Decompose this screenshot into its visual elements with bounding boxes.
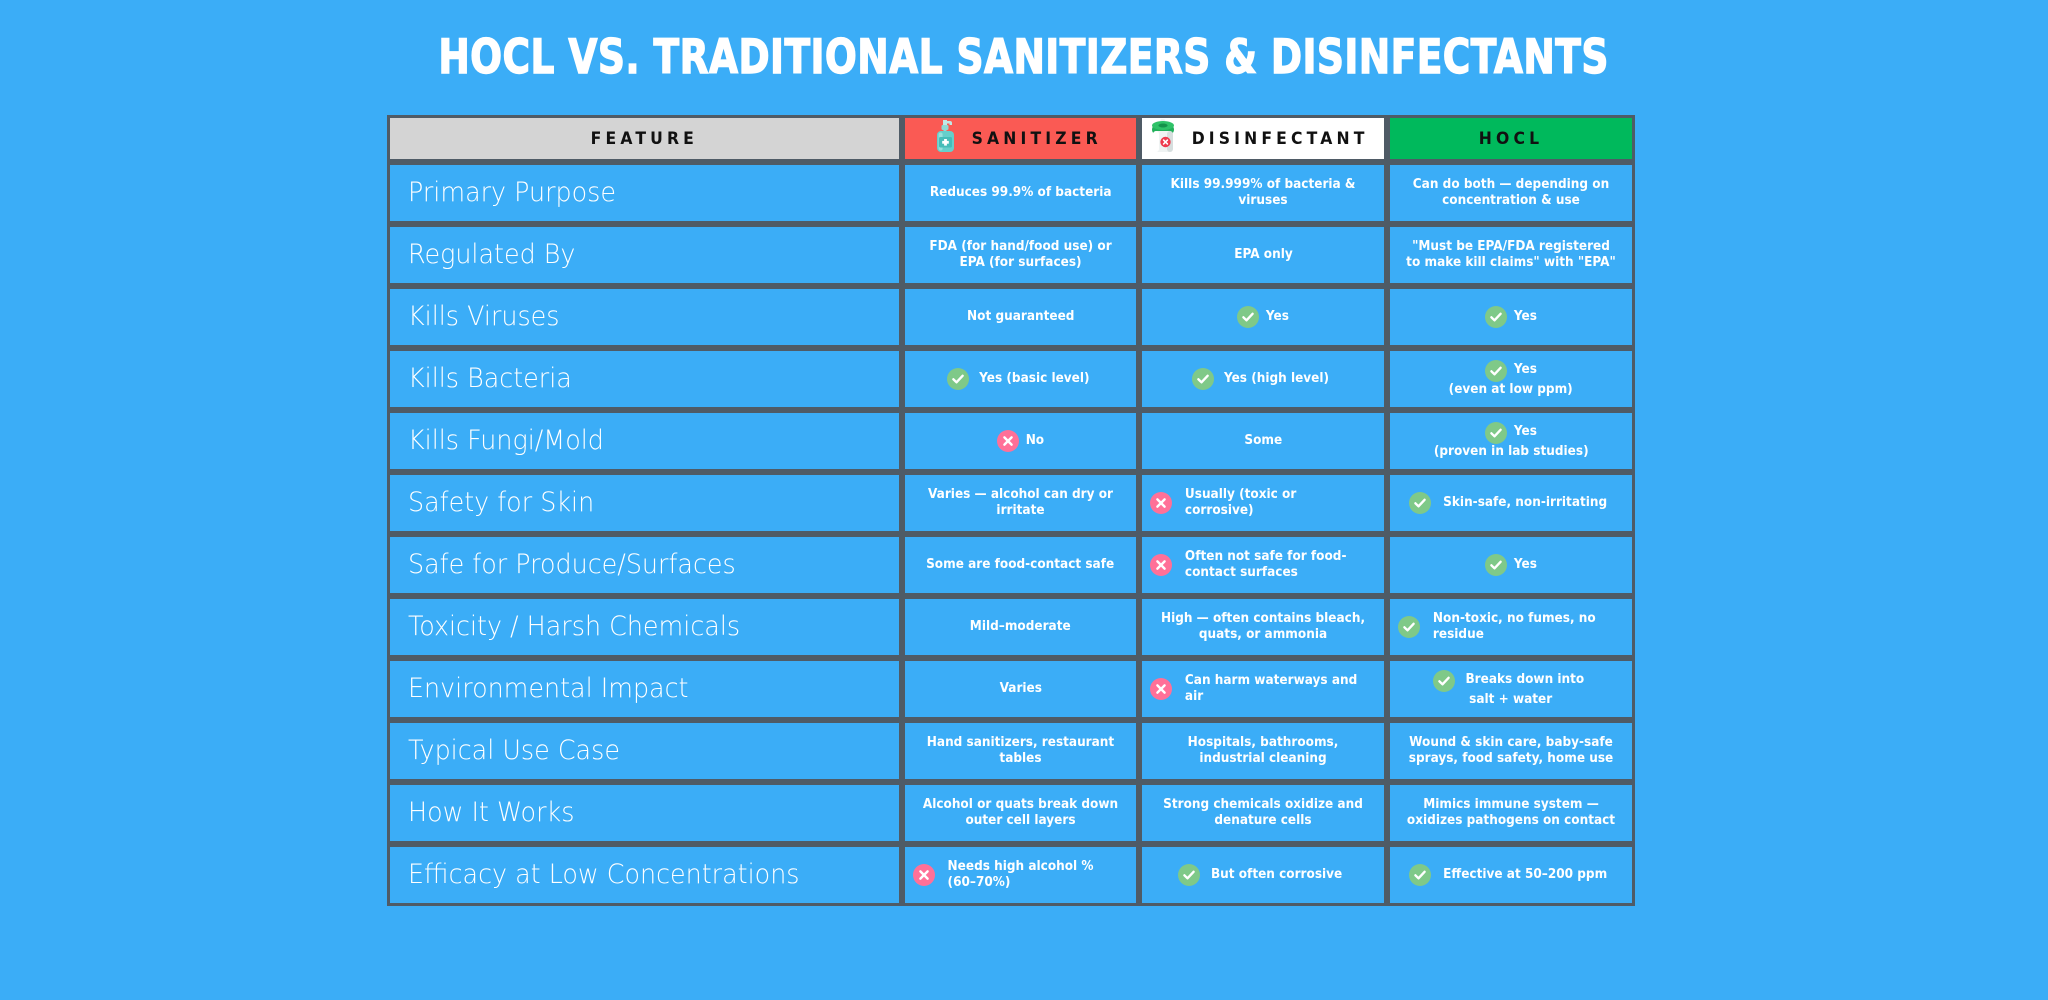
sanitizer-cell: Not guaranteed — [902, 286, 1139, 348]
table-row: Kills BacteriaYes (basic level)Yes (high… — [387, 348, 1635, 410]
disinfectant-cell: Often not safe for food-contact surfaces — [1139, 534, 1387, 596]
cell-text: Yes — [1513, 362, 1536, 379]
sanitizer-cell: FDA (for hand/food use) or EPA (for surf… — [902, 224, 1139, 286]
feature-label: Efficacy at Low Concentrations — [408, 859, 800, 890]
hocl-cell: Wound & skin care, baby-safe sprays, foo… — [1387, 720, 1635, 782]
cell-text: Can harm waterways and air — [1185, 673, 1369, 706]
cell-text: Usually (toxic or corrosive) — [1185, 487, 1369, 520]
disinfectant-cell: But often corrosive — [1139, 844, 1387, 906]
sanitizer-cell: Varies — alcohol can dry or irritate — [902, 472, 1139, 534]
feature-cell: Toxicity / Harsh Chemicals — [387, 596, 902, 658]
sanitizer-cell: Yes (basic level) — [902, 348, 1139, 410]
table-row: How It WorksAlcohol or quats break down … — [387, 782, 1635, 844]
cross-icon — [1150, 492, 1172, 514]
cell-text: Varies — alcohol can dry or irritate — [921, 487, 1121, 520]
cell-text: Non-toxic, no fumes, no residue — [1433, 611, 1617, 644]
hocl-cell: Yes — [1387, 286, 1635, 348]
column-header-hocl-label: HOCL — [1479, 129, 1543, 149]
cell-subtext: (even at low ppm) — [1449, 382, 1573, 399]
feature-cell: Kills Viruses — [387, 286, 902, 348]
cell-text: Hand sanitizers, restaurant tables — [921, 735, 1121, 768]
table-row: Regulated ByFDA (for hand/food use) or E… — [387, 224, 1635, 286]
cell-text: Effective at 50–200 ppm — [1443, 867, 1607, 883]
cell-text: Hospitals, bathrooms, industrial cleanin… — [1158, 735, 1368, 768]
comparison-table-container: FEATURE — [387, 115, 1635, 906]
cell-text: Alcohol or quats break down outer cell l… — [921, 797, 1121, 830]
cell-text: Yes — [1513, 557, 1536, 573]
sanitizer-cell: Alcohol or quats break down outer cell l… — [902, 782, 1139, 844]
feature-label: How It Works — [408, 797, 574, 828]
check-icon — [1237, 306, 1259, 328]
table-row: Kills VirusesNot guaranteedYesYes — [387, 286, 1635, 348]
check-icon — [1409, 864, 1431, 886]
table-header: FEATURE — [387, 115, 1635, 162]
feature-cell: Kills Bacteria — [387, 348, 902, 410]
cell-text: Yes (basic level) — [979, 371, 1089, 387]
feature-cell: Safety for Skin — [387, 472, 902, 534]
cell-text: Mimics immune system — oxidizes pathogen… — [1406, 797, 1616, 830]
check-icon — [1178, 864, 1200, 886]
cell-text: Yes — [1513, 309, 1536, 325]
feature-label: Regulated By — [408, 239, 575, 270]
table-row: Kills Fungi/MoldNoSomeYes(proven in lab … — [387, 410, 1635, 472]
cell-text: Needs high alcohol % (60–70%) — [948, 859, 1122, 892]
page-title: HOCL VS. TRADITIONAL SANITIZERS & DISINF… — [439, 34, 1610, 81]
feature-label: Kills Bacteria — [408, 363, 572, 394]
disinfectant-cell: Yes — [1139, 286, 1387, 348]
hocl-cell: Mimics immune system — oxidizes pathogen… — [1387, 782, 1635, 844]
feature-label: Environmental Impact — [408, 673, 689, 704]
feature-cell: Kills Fungi/Mold — [387, 410, 902, 472]
column-header-feature-label: FEATURE — [591, 129, 698, 149]
feature-label: Kills Fungi/Mold — [408, 425, 604, 456]
disinfectant-cell: Usually (toxic or corrosive) — [1139, 472, 1387, 534]
hocl-cell: Yes(even at low ppm) — [1387, 348, 1635, 410]
disinfectant-cell: Some — [1139, 410, 1387, 472]
cell-subtext: salt + water — [1469, 692, 1552, 709]
feature-label: Kills Viruses — [408, 301, 560, 332]
cell-subtext: (proven in lab studies) — [1434, 444, 1589, 461]
cell-text: Kills 99.999% of bacteria & viruses — [1158, 177, 1368, 210]
title-container: HOCL VS. TRADITIONAL SANITIZERS & DISINF… — [0, 34, 2048, 81]
disinfectant-cell: Hospitals, bathrooms, industrial cleanin… — [1139, 720, 1387, 782]
sanitizer-cell: Some are food-contact safe — [902, 534, 1139, 596]
sanitizer-cell: Mild–moderate — [902, 596, 1139, 658]
infographic-page: HOCL VS. TRADITIONAL SANITIZERS & DISINF… — [0, 0, 2048, 1000]
cell-text: Yes — [1265, 309, 1288, 325]
feature-cell: Typical Use Case — [387, 720, 902, 782]
cell-text: EPA only — [1234, 247, 1293, 263]
column-header-sanitizer-label: SANITIZER — [972, 129, 1102, 149]
column-header-disinfectant: DISINFECTANT — [1139, 115, 1387, 162]
check-icon — [1409, 492, 1431, 514]
cross-icon — [1150, 678, 1172, 700]
hocl-cell: Can do both — depending on concentration… — [1387, 162, 1635, 224]
feature-cell: Environmental Impact — [387, 658, 902, 720]
table-row: Efficacy at Low ConcentrationsNeeds high… — [387, 844, 1635, 906]
cell-text: Skin-safe, non-irritating — [1443, 495, 1607, 511]
cell-text: "Must be EPA/FDA registered to make kill… — [1406, 239, 1616, 272]
feature-cell: Safe for Produce/Surfaces — [387, 534, 902, 596]
cell-text: Strong chemicals oxidize and denature ce… — [1158, 797, 1368, 830]
table-header-row: FEATURE — [387, 115, 1635, 162]
check-icon — [1398, 616, 1420, 638]
hocl-cell: Skin-safe, non-irritating — [1387, 472, 1635, 534]
table-body: Primary PurposeReduces 99.9% of bacteria… — [387, 162, 1635, 906]
cross-icon — [913, 864, 935, 886]
sanitizer-cell: Hand sanitizers, restaurant tables — [902, 720, 1139, 782]
cross-icon — [997, 430, 1019, 452]
feature-cell: Regulated By — [387, 224, 902, 286]
sanitizer-cell: Needs high alcohol % (60–70%) — [902, 844, 1139, 906]
feature-label: Primary Purpose — [408, 177, 616, 208]
cell-text: Not guaranteed — [967, 309, 1074, 325]
hocl-cell: Yes — [1387, 534, 1635, 596]
check-icon — [1485, 306, 1507, 328]
feature-label: Toxicity / Harsh Chemicals — [408, 611, 740, 642]
check-icon — [1485, 554, 1507, 576]
cell-text: Mild–moderate — [970, 619, 1071, 635]
disinfectant-cell: EPA only — [1139, 224, 1387, 286]
disinfectant-cell: Yes (high level) — [1139, 348, 1387, 410]
hocl-cell: Breaks down intosalt + water — [1387, 658, 1635, 720]
disinfectant-cell: High — often contains bleach, quats, or … — [1139, 596, 1387, 658]
cell-text: Often not safe for food-contact surfaces — [1185, 549, 1369, 582]
column-header-hocl: HOCL — [1387, 115, 1635, 162]
comparison-table: FEATURE — [387, 115, 1635, 906]
check-icon — [947, 368, 969, 390]
feature-cell: Primary Purpose — [387, 162, 902, 224]
cell-text: But often corrosive — [1211, 867, 1342, 883]
cell-text: Varies — [999, 681, 1041, 697]
cell-text: Some — [1244, 433, 1282, 449]
cell-text: High — often contains bleach, quats, or … — [1158, 611, 1368, 644]
hocl-cell: "Must be EPA/FDA registered to make kill… — [1387, 224, 1635, 286]
cell-text: Some are food-contact safe — [926, 557, 1114, 573]
disinfectant-cell: Strong chemicals oxidize and denature ce… — [1139, 782, 1387, 844]
hocl-cell: Effective at 50–200 ppm — [1387, 844, 1635, 906]
feature-label: Typical Use Case — [408, 735, 620, 766]
cell-text: Wound & skin care, baby-safe sprays, foo… — [1406, 735, 1616, 768]
column-header-feature: FEATURE — [387, 115, 902, 162]
feature-label: Safe for Produce/Surfaces — [408, 549, 736, 580]
check-icon — [1485, 360, 1507, 382]
cell-text: FDA (for hand/food use) or EPA (for surf… — [921, 239, 1121, 272]
feature-cell: Efficacy at Low Concentrations — [387, 844, 902, 906]
check-icon — [1485, 422, 1507, 444]
sanitizer-bottle-icon — [933, 119, 959, 158]
feature-cell: How It Works — [387, 782, 902, 844]
table-row: Safety for SkinVaries — alcohol can dry … — [387, 472, 1635, 534]
column-header-sanitizer: SANITIZER — [902, 115, 1139, 162]
cell-text: Yes (high level) — [1224, 371, 1329, 387]
table-row: Environmental ImpactVariesCan harm water… — [387, 658, 1635, 720]
column-header-disinfectant-label: DISINFECTANT — [1192, 129, 1369, 149]
disinfectant-cell: Kills 99.999% of bacteria & viruses — [1139, 162, 1387, 224]
sanitizer-cell: No — [902, 410, 1139, 472]
cell-text: Reduces 99.9% of bacteria — [930, 185, 1112, 201]
cell-text: Yes — [1513, 424, 1536, 441]
disinfectant-cell: Can harm waterways and air — [1139, 658, 1387, 720]
cell-text: Breaks down into — [1466, 672, 1585, 689]
sanitizer-cell: Reduces 99.9% of bacteria — [902, 162, 1139, 224]
cell-text: No — [1025, 433, 1043, 449]
hocl-cell: Yes(proven in lab studies) — [1387, 410, 1635, 472]
cell-text: Can do both — depending on concentration… — [1406, 177, 1616, 210]
hocl-cell: Non-toxic, no fumes, no residue — [1387, 596, 1635, 658]
table-row: Safe for Produce/SurfacesSome are food-c… — [387, 534, 1635, 596]
table-row: Typical Use CaseHand sanitizers, restaur… — [387, 720, 1635, 782]
sanitizer-cell: Varies — [902, 658, 1139, 720]
feature-label: Safety for Skin — [408, 487, 594, 518]
table-row: Primary PurposeReduces 99.9% of bacteria… — [387, 162, 1635, 224]
cross-icon — [1150, 554, 1172, 576]
check-icon — [1192, 368, 1214, 390]
disinfectant-can-icon — [1149, 118, 1177, 159]
check-icon — [1433, 670, 1455, 692]
table-row: Toxicity / Harsh ChemicalsMild–moderateH… — [387, 596, 1635, 658]
